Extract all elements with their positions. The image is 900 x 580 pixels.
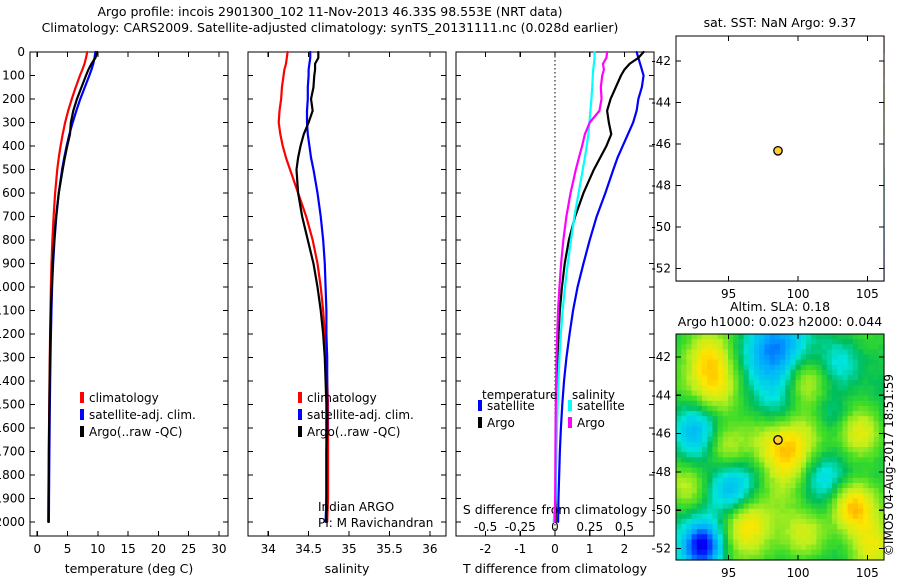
difference-axis-label-bottom: T difference from climatology: [462, 561, 648, 576]
sla-cell: [723, 498, 729, 504]
sla-cell: [707, 442, 713, 448]
sla-cell: [697, 349, 703, 355]
sla-cell: [790, 545, 796, 551]
sla-cell: [832, 519, 838, 525]
salinity-panel-frame: [248, 52, 446, 536]
sla-cell: [733, 349, 739, 355]
sla-cell: [842, 411, 848, 417]
sla-cell: [728, 493, 734, 499]
sla-cell: [822, 380, 828, 386]
sla-cell: [785, 514, 791, 520]
sla-cell: [702, 529, 708, 535]
sla-cell: [863, 385, 869, 391]
sla-cell: [842, 360, 848, 366]
sla-cell: [754, 504, 760, 510]
sla-cell: [754, 385, 760, 391]
sla-cell: [738, 375, 744, 381]
sla-cell: [749, 375, 755, 381]
sla-cell: [868, 426, 874, 432]
sla-cell: [853, 473, 859, 479]
sla-cell: [702, 447, 708, 453]
sla-cell: [796, 406, 802, 412]
sla-cell: [806, 391, 812, 397]
sla-cell: [738, 426, 744, 432]
sla-cell: [837, 509, 843, 515]
sla-cell: [816, 437, 822, 443]
sla-cell: [692, 365, 698, 371]
sla-cell: [842, 370, 848, 376]
sla-cell: [764, 339, 770, 345]
sla-cell: [863, 355, 869, 361]
sla-cell: [796, 457, 802, 463]
sla-cell: [832, 498, 838, 504]
sla-cell: [801, 375, 807, 381]
sla-cell: [775, 355, 781, 361]
sla-cell: [759, 524, 765, 530]
sla-cell: [723, 375, 729, 381]
sla-cell: [686, 539, 692, 545]
sla-cell: [874, 396, 880, 402]
sla-cell: [853, 355, 859, 361]
sla-cell: [686, 504, 692, 510]
sla-cell: [827, 447, 833, 453]
sla-cell: [759, 365, 765, 371]
sla-cell: [754, 457, 760, 463]
sla-cell: [790, 550, 796, 556]
sla-cell: [811, 411, 817, 417]
sla-cell: [827, 391, 833, 397]
sla-cell: [811, 437, 817, 443]
sla-cell: [723, 349, 729, 355]
sla-cell: [686, 483, 692, 489]
sla-cell: [686, 344, 692, 350]
sla-cell: [775, 504, 781, 510]
sla-cell: [811, 519, 817, 525]
sla-cell: [796, 519, 802, 525]
sla-cell: [733, 380, 739, 386]
sla-cell: [853, 349, 859, 355]
sla-cell: [790, 360, 796, 366]
sla-cell: [733, 550, 739, 556]
sla-cell: [863, 416, 869, 422]
sla-cell: [790, 488, 796, 494]
sla-cell: [759, 452, 765, 458]
sla-cell: [822, 452, 828, 458]
sla-cell: [775, 483, 781, 489]
sla-cell: [822, 344, 828, 350]
sla-cell: [686, 370, 692, 376]
sla-cell: [754, 545, 760, 551]
sla-cell: [738, 550, 744, 556]
temperature-ytick-label: 0: [17, 45, 25, 59]
sla-cell: [681, 539, 687, 545]
sla-cell: [858, 452, 864, 458]
sla-cell: [764, 447, 770, 453]
sla-cell: [697, 550, 703, 556]
sla-cell: [707, 370, 713, 376]
sla-cell: [749, 493, 755, 499]
sla-cell: [754, 437, 760, 443]
sla-cell: [863, 483, 869, 489]
sla-cell: [681, 457, 687, 463]
sla-cell: [718, 457, 724, 463]
sla-cell: [697, 457, 703, 463]
sla-cell: [837, 396, 843, 402]
sla-cell: [848, 416, 854, 422]
sla-cell: [712, 504, 718, 510]
sla-cell: [686, 360, 692, 366]
sla-cell: [702, 457, 708, 463]
sla-cell: [863, 360, 869, 366]
sla-cell: [858, 457, 864, 463]
sla-cell: [697, 493, 703, 499]
sla-cell: [853, 534, 859, 540]
sla-cell: [712, 524, 718, 530]
sla-cell: [796, 339, 802, 345]
sla-cell: [796, 391, 802, 397]
sla-cell: [780, 349, 786, 355]
sla-cell: [744, 432, 750, 438]
sla-cell: [764, 457, 770, 463]
sla-cell: [848, 411, 854, 417]
sla-cell: [759, 534, 765, 540]
sla-cell: [749, 514, 755, 520]
sla-cell: [712, 550, 718, 556]
sla-cell: [842, 457, 848, 463]
sla-cell: [827, 457, 833, 463]
sla-cell: [816, 416, 822, 422]
sla-cell: [822, 339, 828, 345]
sla-cell: [749, 483, 755, 489]
sla-cell: [738, 349, 744, 355]
sla-cell: [853, 462, 859, 468]
sla-cell: [686, 365, 692, 371]
sla-cell: [868, 432, 874, 438]
sla-cell: [811, 355, 817, 361]
sla-cell: [780, 468, 786, 474]
salinity-series-0: [279, 52, 328, 522]
sla-cell: [744, 375, 750, 381]
sla-cell: [832, 545, 838, 551]
sla-cell: [837, 391, 843, 397]
sla-cell: [775, 349, 781, 355]
sla-cell: [676, 514, 682, 520]
sla-cell: [837, 550, 843, 556]
sla-cell: [848, 406, 854, 412]
sla-cell: [733, 529, 739, 535]
sla-cell: [738, 432, 744, 438]
temperature-xtick-label: 25: [181, 542, 196, 556]
sla-cell: [837, 473, 843, 479]
sla-cell: [858, 406, 864, 412]
sla-cell: [718, 344, 724, 350]
sla-cell: [806, 447, 812, 453]
sla-cell: [837, 529, 843, 535]
sla-cell: [848, 550, 854, 556]
sla-cell: [822, 498, 828, 504]
sla-cell: [863, 498, 869, 504]
sla-cell: [790, 365, 796, 371]
sla-cell: [738, 344, 744, 350]
sla-cell: [801, 339, 807, 345]
sla-cell: [692, 519, 698, 525]
sla-cell: [764, 385, 770, 391]
sla-cell: [707, 426, 713, 432]
sla-cell: [697, 406, 703, 412]
sla-cell: [827, 514, 833, 520]
sla-cell: [816, 545, 822, 551]
sla-cell: [837, 483, 843, 489]
sla-cell: [806, 504, 812, 510]
sla-map-ytick-label: -52: [651, 542, 671, 556]
sla-cell: [796, 447, 802, 453]
sla-cell: [764, 462, 770, 468]
sla-cell: [749, 380, 755, 386]
sla-cell: [853, 504, 859, 510]
sla-cell: [712, 483, 718, 489]
sla-cell: [775, 365, 781, 371]
sla-cell: [759, 483, 765, 489]
sla-cell: [718, 509, 724, 515]
sla-cell: [827, 534, 833, 540]
sla-cell: [744, 391, 750, 397]
salinity-xtick-label: 36: [422, 542, 437, 556]
sla-cell: [749, 365, 755, 371]
sla-cell: [868, 529, 874, 535]
sla-cell: [723, 406, 729, 412]
sla-cell: [723, 447, 729, 453]
sla-cell: [744, 488, 750, 494]
sla-cell: [853, 396, 859, 402]
sla-cell: [764, 375, 770, 381]
sla-cell: [770, 385, 776, 391]
sla-cell: [733, 421, 739, 427]
sla-cell: [707, 524, 713, 530]
sla-cell: [785, 504, 791, 510]
sla-cell: [874, 545, 880, 551]
sla-cell: [842, 534, 848, 540]
sla-cell: [853, 344, 859, 350]
sla-cell: [780, 504, 786, 510]
sla-cell: [759, 344, 765, 350]
sla-cell: [858, 339, 864, 345]
sla-cell: [692, 355, 698, 361]
sla-cell: [832, 432, 838, 438]
sla-cell: [858, 344, 864, 350]
sla-cell: [728, 488, 734, 494]
sla-cell: [837, 426, 843, 432]
sla-cell: [718, 550, 724, 556]
sla-cell: [858, 421, 864, 427]
sla-map-xtick-label: 105: [856, 566, 879, 580]
sla-cell: [842, 391, 848, 397]
sla-cell: [874, 539, 880, 545]
sla-cell: [681, 365, 687, 371]
sla-cell: [775, 509, 781, 515]
sla-cell: [790, 483, 796, 489]
sla-cell: [681, 447, 687, 453]
sla-cell: [744, 426, 750, 432]
sla-cell: [712, 545, 718, 551]
sla-cell: [712, 396, 718, 402]
sla-cell: [728, 462, 734, 468]
sla-cell: [681, 416, 687, 422]
sla-cell: [738, 524, 744, 530]
sla-cell: [868, 550, 874, 556]
sla-cell: [733, 385, 739, 391]
salinity-legend-label-0: climatology: [307, 391, 377, 405]
sla-cell: [738, 447, 744, 453]
sla-cell: [827, 406, 833, 412]
sla-cell: [728, 391, 734, 397]
sla-cell: [874, 406, 880, 412]
sla-cell: [848, 360, 854, 366]
sla-cell: [686, 416, 692, 422]
sla-cell: [853, 447, 859, 453]
sla-cell: [676, 457, 682, 463]
sla-cell: [832, 437, 838, 443]
sla-cell: [775, 426, 781, 432]
sla-cell: [837, 504, 843, 510]
sla-cell: [681, 334, 687, 340]
sla-cell: [853, 452, 859, 458]
sla-cell: [868, 339, 874, 345]
sla-cell: [837, 442, 843, 448]
sla-cell: [759, 488, 765, 494]
sla-cell: [754, 493, 760, 499]
sla-cell: [723, 473, 729, 479]
sla-cell: [822, 349, 828, 355]
sla-cell: [842, 355, 848, 361]
sla-cell: [796, 473, 802, 479]
sla-cell: [718, 370, 724, 376]
sla-cell: [816, 478, 822, 484]
sla-cell: [712, 365, 718, 371]
temperature-legend-label-2: Argo(..raw -QC): [89, 425, 182, 439]
sla-cell: [785, 396, 791, 402]
sla-cell: [728, 529, 734, 535]
sla-cell: [868, 534, 874, 540]
sla-cell: [837, 406, 843, 412]
sla-cell: [697, 519, 703, 525]
sla-cell: [718, 355, 724, 361]
sla-cell: [697, 524, 703, 530]
sla-cell: [718, 401, 724, 407]
sla-cell: [806, 421, 812, 427]
sla-cell: [858, 473, 864, 479]
sla-cell: [697, 462, 703, 468]
sla-cell: [749, 426, 755, 432]
sla-cell: [775, 462, 781, 468]
sla-cell: [796, 355, 802, 361]
sla-cell: [759, 473, 765, 479]
sla-cell: [744, 468, 750, 474]
sla-cell: [681, 468, 687, 474]
sla-cell: [718, 529, 724, 535]
temperature-series-1: [49, 52, 96, 522]
sla-cell: [858, 550, 864, 556]
sla-cell: [707, 457, 713, 463]
temperature-ytick-label: 1700: [0, 444, 25, 458]
sla-cell: [712, 401, 718, 407]
sla-cell: [848, 483, 854, 489]
sla-cell: [785, 385, 791, 391]
sla-cell: [874, 534, 880, 540]
sla-cell: [707, 365, 713, 371]
sla-cell: [837, 334, 843, 340]
sla-cell: [775, 452, 781, 458]
sla-cell: [723, 452, 729, 458]
sla-cell: [770, 421, 776, 427]
sla-cell: [811, 432, 817, 438]
sla-cell: [759, 545, 765, 551]
sla-cell: [806, 437, 812, 443]
sla-cell: [863, 339, 869, 345]
sla-cell: [754, 355, 760, 361]
sla-cell: [770, 473, 776, 479]
sla-cell: [811, 514, 817, 520]
sla-cell: [738, 437, 744, 443]
sla-cell: [728, 509, 734, 515]
sla-cell: [785, 437, 791, 443]
sla-cell: [749, 360, 755, 366]
sla-cell: [863, 452, 869, 458]
sla-cell: [702, 355, 708, 361]
sla-cell: [764, 365, 770, 371]
sla-cell: [676, 529, 682, 535]
sla-cell: [681, 488, 687, 494]
sla-cell: [811, 370, 817, 376]
sla-cell: [853, 421, 859, 427]
sla-cell: [749, 473, 755, 479]
sla-cell: [733, 375, 739, 381]
sla-cell: [733, 452, 739, 458]
sla-cell: [785, 509, 791, 515]
sla-cell: [749, 370, 755, 376]
sla-cell: [770, 339, 776, 345]
sla-cell: [858, 504, 864, 510]
sla-cell: [702, 509, 708, 515]
sla-cell: [842, 432, 848, 438]
sla-cell: [780, 380, 786, 386]
sla-cell: [822, 524, 828, 530]
sla-cell: [822, 468, 828, 474]
sla-cell: [702, 391, 708, 397]
sla-cell: [822, 488, 828, 494]
sla-cell: [816, 483, 822, 489]
sla-cell: [744, 416, 750, 422]
sla-cell: [702, 360, 708, 366]
sla-cell: [822, 426, 828, 432]
sla-cell: [801, 426, 807, 432]
sla-cell: [733, 462, 739, 468]
sla-cell: [681, 375, 687, 381]
sla-cell: [806, 401, 812, 407]
sla-cell: [707, 339, 713, 345]
sla-cell: [749, 355, 755, 361]
sla-cell: [681, 514, 687, 520]
sla-map-ytick-label: -44: [651, 388, 671, 402]
sla-cell: [853, 365, 859, 371]
sla-cell: [775, 375, 781, 381]
sla-cell: [676, 411, 682, 417]
sla-cell: [868, 447, 874, 453]
sla-cell: [832, 473, 838, 479]
sla-cell: [764, 504, 770, 510]
sla-cell: [775, 339, 781, 345]
sla-cell: [676, 437, 682, 443]
sla-cell: [723, 416, 729, 422]
